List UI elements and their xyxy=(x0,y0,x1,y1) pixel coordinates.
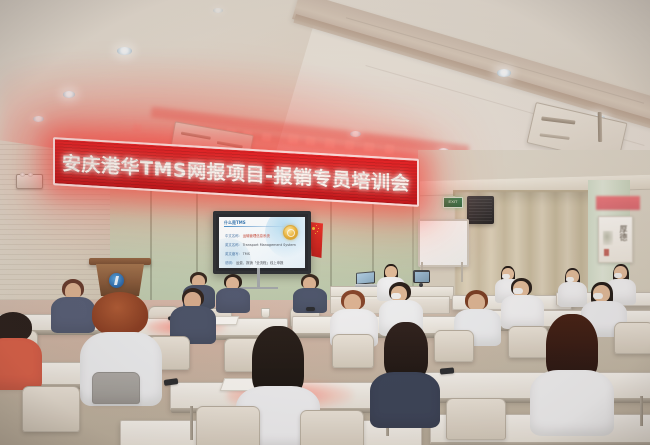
paper-sheet xyxy=(213,316,240,325)
pillar-banner-reflection xyxy=(596,196,640,210)
laptop[interactable] xyxy=(356,272,376,288)
ceiling-downlight xyxy=(117,47,132,55)
slide-row: 英文缩写: TMS xyxy=(225,251,250,256)
chair xyxy=(446,398,506,440)
slide-row-key: 英文名称: xyxy=(225,242,240,247)
slide-gold-badge xyxy=(283,225,298,240)
chair xyxy=(92,372,140,404)
wall-poster: 厚德 xyxy=(598,216,633,263)
chinese-flag xyxy=(310,222,323,258)
ceiling-downlight xyxy=(63,91,75,98)
ceiling-downlight xyxy=(33,116,44,122)
wall-speaker xyxy=(467,196,494,224)
slide-row-value: Transport Management System xyxy=(243,243,296,247)
chair xyxy=(508,326,548,358)
chair xyxy=(22,386,80,432)
chair xyxy=(300,410,364,445)
ceiling-downlight xyxy=(213,8,223,13)
chair xyxy=(196,406,260,445)
poster-seal xyxy=(604,249,609,256)
ceiling-downlight xyxy=(497,69,511,77)
training-room-photo: EXIT 厚德 安庆港华TMS网报项目-报销专员培训会 xyxy=(0,0,650,445)
mobile-phone xyxy=(440,367,454,374)
exit-sign-label: EXIT xyxy=(444,198,462,205)
chair xyxy=(332,334,374,368)
slide-row-value: TMS xyxy=(243,252,250,256)
presentation-slide: 什么是TMS 中文名称: 运输管理信息系统 英文名称: Transport Ma… xyxy=(219,217,305,268)
slide-row-key: 中文名称: xyxy=(225,233,240,238)
slide-row-key: 英文缩写: xyxy=(225,251,240,256)
slide-row-key: 说明: xyxy=(225,260,233,265)
slide-row: 英文名称: Transport Management System xyxy=(225,242,296,247)
podium xyxy=(92,258,148,296)
slide-row-value: 运费、报销「全流程」线上申报 xyxy=(236,260,283,265)
chair xyxy=(614,322,650,354)
slide-row-value: 运输管理信息系统 xyxy=(243,233,270,238)
mobile-phone xyxy=(306,307,315,311)
poster-ink-painting xyxy=(603,231,613,245)
desk-monitor xyxy=(413,270,430,283)
ceiling-downlight xyxy=(350,131,361,137)
cup xyxy=(261,308,270,318)
exit-sign: EXIT xyxy=(443,197,463,208)
desk-monitor-stand xyxy=(419,283,423,287)
poster-calligraphy: 厚德 xyxy=(619,225,627,241)
podium-logo xyxy=(109,273,124,288)
chair xyxy=(434,330,474,362)
slide-row: 中文名称: 运输管理信息系统 xyxy=(225,233,270,238)
emergency-light xyxy=(16,174,43,189)
whiteboard xyxy=(418,219,469,267)
slide-row: 说明: 运费、报销「全流程」线上申报 xyxy=(225,260,283,265)
presentation-screen[interactable]: 什么是TMS 中文名称: 运输管理信息系统 英文名称: Transport Ma… xyxy=(213,211,311,274)
